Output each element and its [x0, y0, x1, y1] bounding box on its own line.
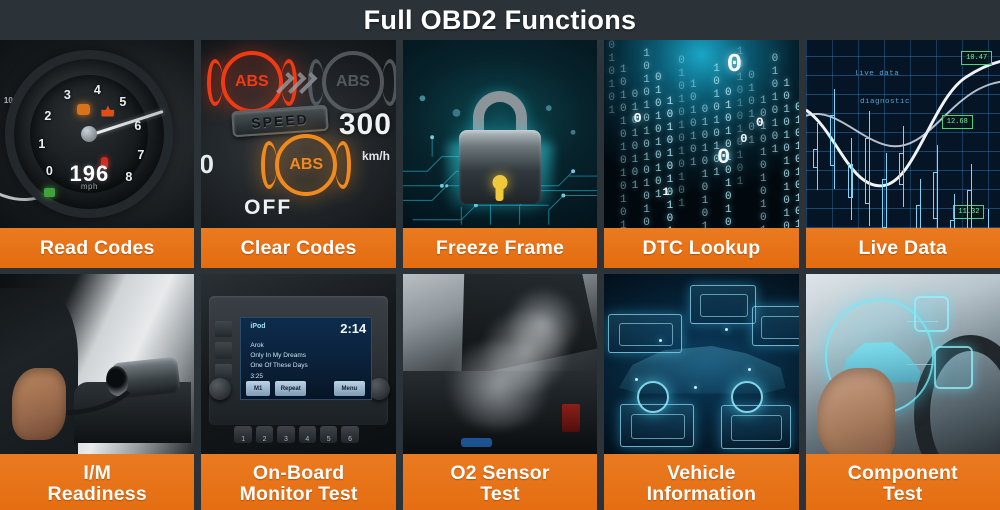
binary-rain-column: 1 0 1 0 1 0 1 0 1 0 1 0 1 0 1 [781, 78, 792, 228]
elapsed-time: 3:25 [250, 373, 263, 380]
tile-label-onboard-monitor-test: On-Board Monitor Test [201, 454, 395, 510]
chart-note: diagnostic [860, 98, 910, 106]
dial-number: 8 [125, 170, 132, 184]
track-artist: Arok [250, 342, 263, 349]
tile-label-freeze-frame: Freeze Frame [403, 228, 597, 268]
binary-rain-column: 0 1 0 1 0 1 [746, 70, 757, 148]
holo-info-panel [721, 405, 791, 448]
header: Full OBD2 Functions [0, 0, 1000, 40]
tile-label-vehicle-information: Vehicle Information [604, 454, 798, 510]
holographic-car-icon [615, 332, 787, 404]
binary-rain-column: 0 1 0 1 0 1 0 1 0 1 0 1 0 1 0 1 [723, 87, 734, 228]
binary-rain-column: 0 1 0 1 0 1 0 1 [629, 89, 640, 193]
tachometer-dial: 0 1 2 3 4 5 6 7 8 [5, 50, 173, 218]
dial-number: 0 [46, 164, 53, 178]
binary-rain-column: 0 1 0 1 0 1 0 1 0 1 0 1 0 1 [699, 104, 710, 228]
abs-badge-text: ABS [275, 134, 337, 196]
candle-body [830, 115, 835, 166]
function-tile-o2-sensor-test[interactable]: O2 Sensor Test [403, 274, 597, 510]
thumbnail-data-chart: live data diagnostic 10.47 12.68 11.32 [806, 40, 1000, 228]
preset-button-2[interactable]: 2 [256, 426, 273, 443]
function-tile-component-test[interactable]: Component Test [806, 274, 1000, 510]
thumbnail-binary-rain: 0 0 0 0 0 1 0 1 0 1 0 1 1 0 1 0 1 0 1 0 … [604, 40, 798, 228]
binary-rain-column: 0 1 0 1 0 1 0 1 0 1 0 1 [676, 55, 687, 211]
function-tile-grid: 100 125 150 175 200 0 1 2 3 4 5 6 7 [0, 40, 1000, 510]
thumbnail-engine-smoke [403, 274, 597, 454]
clock-display: 2:14 [340, 321, 366, 336]
dial-number: 1 [38, 137, 45, 151]
dial-number: 4 [94, 83, 101, 97]
binary-rain-column: 1 0 1 0 1 0 1 0 1 0 1 [734, 46, 745, 189]
thumbnail-abs-lights: ABS ABS SPEED 300 km/h 0 ABS [201, 40, 395, 228]
abs-badge-text: ABS [221, 51, 283, 113]
function-tile-dtc-lookup[interactable]: 0 0 0 0 0 1 0 1 0 1 0 1 1 0 1 0 1 0 1 0 … [604, 40, 798, 268]
candle-body [967, 190, 972, 228]
binary-rain-column: 0 1 0 1 0 1 0 1 0 1 [653, 72, 664, 202]
page-title: Full OBD2 Functions [364, 5, 637, 36]
media-source-label: iPod [250, 323, 265, 330]
thumbnail-instrument-cluster: 100 125 150 175 200 0 1 2 3 4 5 6 7 [0, 40, 194, 228]
binary-rain-column: 1 0 1 0 1 0 1 [688, 79, 699, 170]
binary-rain-column: 0 1 0 1 0 1 0 1 0 1 [793, 102, 799, 228]
speed-unit: km/h [362, 149, 390, 163]
tile-label-dtc-lookup: DTC Lookup [604, 228, 798, 268]
chart-note: live data [854, 70, 899, 78]
function-tile-clear-codes[interactable]: ABS ABS SPEED 300 km/h 0 ABS [201, 40, 395, 268]
function-tile-im-readiness[interactable]: I/M Readiness [0, 274, 194, 510]
thumbnail-padlock-circuit [403, 40, 597, 228]
candle-wick [988, 209, 989, 228]
speed-value: 300 [339, 108, 392, 142]
padlock-icon [459, 130, 541, 204]
tile-label-im-readiness: I/M Readiness [0, 454, 194, 510]
tile-label-component-test: Component Test [806, 454, 1000, 510]
left-digit: 0 [201, 149, 214, 180]
abs-warning-icon-amber: ABS [275, 134, 337, 196]
engine-status-icon [934, 346, 973, 389]
abs-warning-icon-inactive: ABS [322, 51, 384, 113]
dial-number: 7 [137, 148, 144, 162]
odometer-unit: mph [81, 182, 98, 191]
hand-pointer [817, 368, 895, 454]
candlestick-chart-icon: live data diagnostic 10.47 12.68 11.32 [806, 40, 1000, 228]
technician-hand [12, 368, 66, 440]
binary-rain-column: 1 0 1 0 1 0 1 0 1 [711, 63, 722, 180]
dial-number: 2 [44, 109, 51, 123]
preset-button-3[interactable]: 3 [277, 426, 294, 443]
function-tile-live-data[interactable]: live data diagnostic 10.47 12.68 11.32 L… [806, 40, 1000, 268]
candle-body [865, 138, 870, 204]
candle-body [950, 220, 955, 228]
chart-tag: 10.47 [961, 51, 992, 65]
function-tile-freeze-frame[interactable]: Freeze Frame [403, 40, 597, 268]
function-tile-onboard-monitor-test[interactable]: 2:14 iPod Arok Only In My Dreams One Of … [201, 274, 395, 510]
binary-rain-column: 0 1 0 1 0 1 0 1 [769, 53, 780, 157]
candle-body [848, 164, 853, 198]
head-unit-screen: 2:14 iPod Arok Only In My Dreams One Of … [240, 317, 372, 400]
function-tile-read-codes[interactable]: 100 125 150 175 200 0 1 2 3 4 5 6 7 [0, 40, 194, 268]
abs-warning-icon-active: ABS [221, 51, 283, 113]
off-label: OFF [244, 196, 292, 220]
preset-button-5[interactable]: 5 [320, 426, 337, 443]
candle-body [882, 179, 887, 228]
gear-indicator-icon [44, 188, 55, 197]
obd2-functions-poster: Full OBD2 Functions 100 125 150 175 200 … [0, 0, 1000, 510]
preset-button-4[interactable]: 4 [299, 426, 316, 443]
binary-rain-column: 1 0 1 0 1 0 1 0 1 0 1 0 1 [758, 95, 769, 228]
function-tile-vehicle-information[interactable]: Vehicle Information [604, 274, 798, 510]
track-title: Only In My Dreams [250, 352, 306, 359]
tile-label-o2-sensor-test: O2 Sensor Test [403, 454, 597, 510]
thumbnail-holographic-car [604, 274, 798, 454]
abs-badge-text: ABS [322, 51, 384, 113]
screen-button-menu[interactable]: Menu [334, 381, 365, 396]
dial-number: 5 [119, 95, 126, 109]
screen-button-repeat[interactable]: Repeat [275, 381, 306, 396]
binary-rain-column: 0 1 0 1 0 1 [606, 40, 617, 118]
holo-info-panel [690, 285, 756, 325]
gauge-hub [81, 126, 97, 142]
album-name: One Of These Days [250, 362, 307, 369]
screen-button-m1[interactable]: M1 [246, 381, 269, 396]
binary-rain-column: 1 0 1 0 1 0 1 0 1 0 1 0 1 [618, 64, 629, 228]
thumbnail-head-unit: 2:14 iPod Arok Only In My Dreams One Of … [201, 274, 395, 454]
smoke-plume [504, 288, 582, 360]
preset-button-1[interactable]: 1 [234, 426, 251, 443]
thumbnail-touch-hologram [806, 274, 1000, 454]
binary-rain-column: 1 0 1 0 1 0 1 0 1 0 1 0 1 0 1 [641, 48, 652, 228]
candle-body [933, 172, 938, 219]
tile-label-clear-codes: Clear Codes [201, 228, 395, 268]
tile-label-read-codes: Read Codes [0, 228, 194, 268]
chart-tag: 12.68 [942, 115, 973, 129]
binary-rain-icon: 0 0 0 0 0 1 0 1 0 1 0 1 1 0 1 0 1 0 1 0 … [604, 40, 798, 228]
keyhole-icon [492, 175, 507, 190]
candle-body [899, 153, 904, 185]
thumbnail-emissions-probe [0, 274, 194, 454]
tile-label-live-data: Live Data [806, 228, 1000, 268]
candle-body [916, 205, 921, 228]
dial-number: 3 [64, 88, 71, 102]
candle-body [813, 149, 818, 168]
preset-button-6[interactable]: 6 [341, 426, 358, 443]
binary-rain-column: 1 0 1 0 1 0 1 0 1 0 1 0 1 0 1 0 1 [664, 96, 675, 228]
engine-warning-icon [77, 104, 90, 115]
